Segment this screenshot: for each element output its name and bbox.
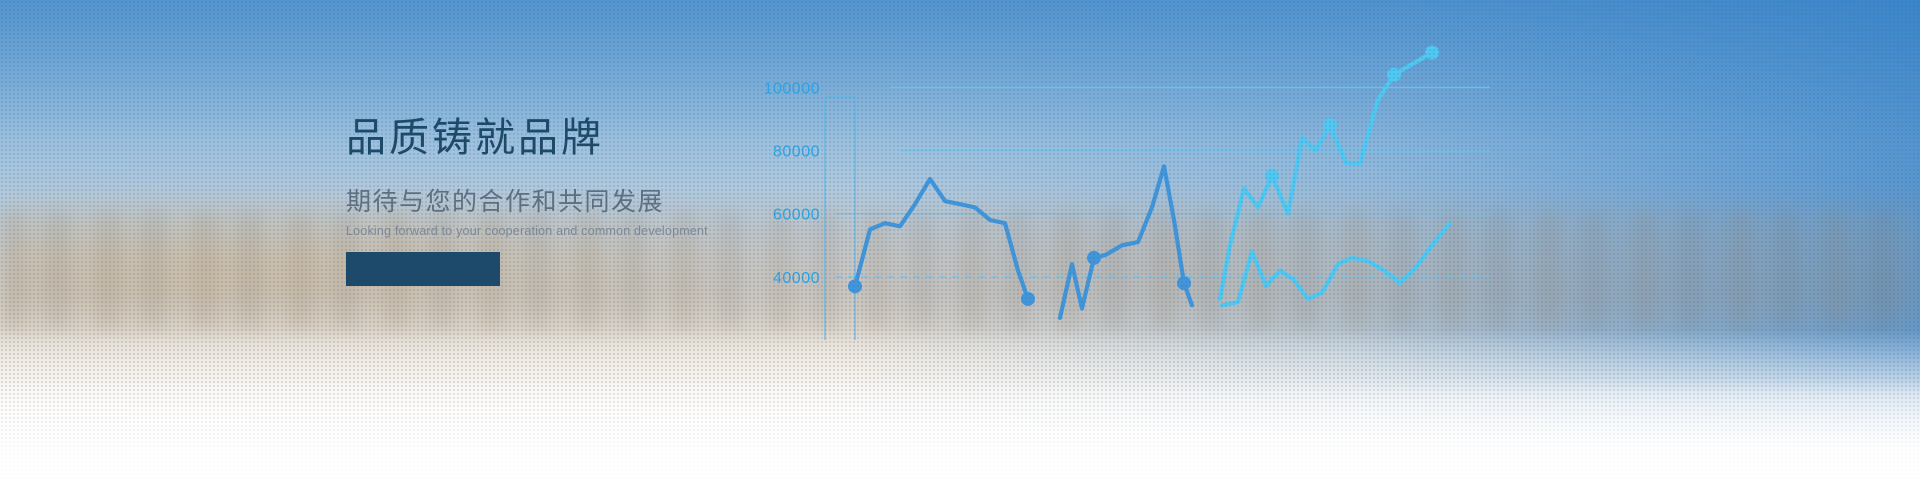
data-point-marker[interactable] (848, 279, 862, 293)
line-chart: 400006000080000100000 (760, 0, 1920, 500)
chart-svg: 400006000080000100000 (760, 0, 1920, 500)
cta-button[interactable] (346, 252, 500, 286)
data-point-marker[interactable] (1021, 292, 1035, 306)
chart-line (855, 179, 1028, 299)
page-subtitle-english: Looking forward to your cooperation and … (346, 225, 766, 238)
data-point-marker[interactable] (1425, 46, 1439, 60)
data-point-marker[interactable] (1177, 276, 1191, 290)
hero-banner: 400006000080000100000 品质铸就品牌 期待与您的合作和共同发… (0, 0, 1920, 500)
data-point-marker[interactable] (1323, 118, 1337, 132)
page-title: 品质铸就品牌 (346, 118, 766, 158)
chart-line (1220, 53, 1432, 299)
data-point-marker[interactable] (1087, 251, 1101, 265)
chart-line (1222, 223, 1450, 305)
y-tick-label: 40000 (773, 270, 820, 287)
hero-copy: 品质铸就品牌 期待与您的合作和共同发展 Looking forward to y… (346, 118, 766, 238)
y-tick-label: 60000 (773, 207, 820, 224)
y-tick-label: 100000 (764, 80, 820, 97)
data-point-marker[interactable] (1387, 68, 1401, 82)
data-point-marker[interactable] (1265, 169, 1279, 183)
page-subtitle: 期待与您的合作和共同发展 (346, 190, 766, 215)
chart-line (1060, 166, 1192, 318)
y-tick-label: 80000 (773, 144, 820, 161)
